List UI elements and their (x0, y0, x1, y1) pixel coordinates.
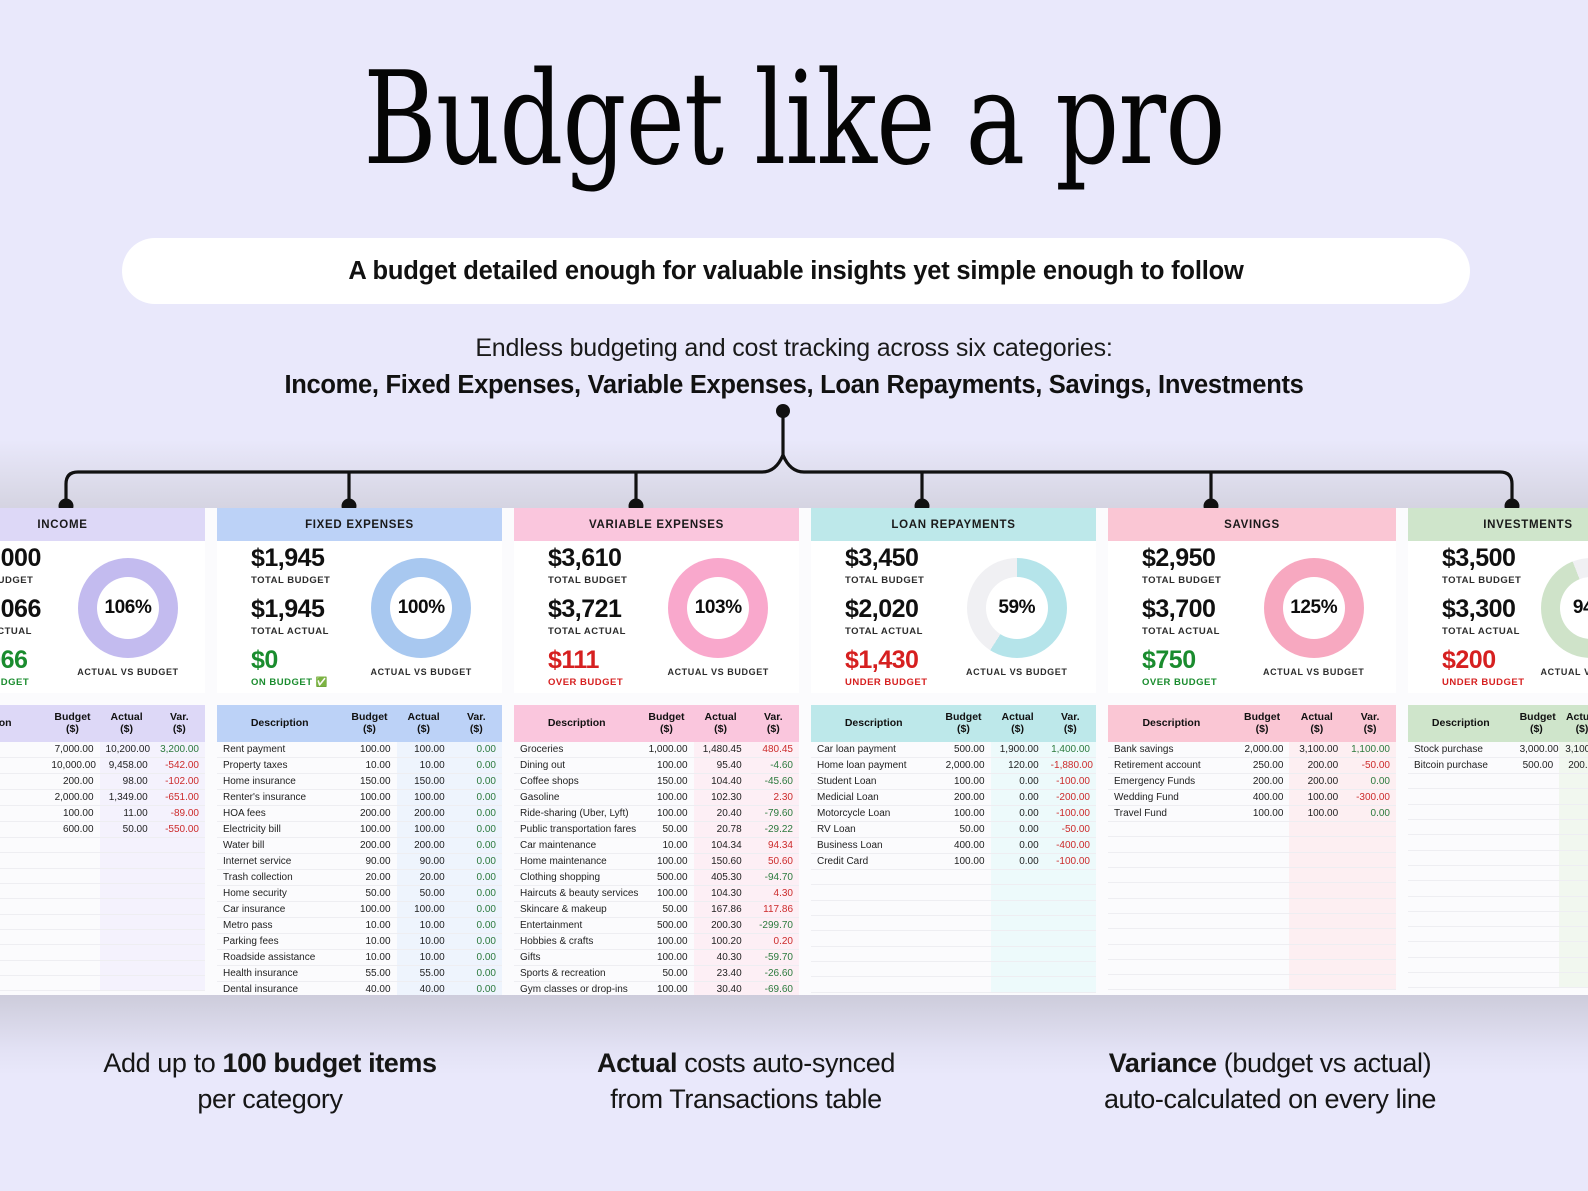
table-row[interactable]: Electricity bill100.00100.000.00 (217, 822, 502, 838)
table-row[interactable]: RV Loan50.000.00-50.00 (811, 822, 1096, 838)
table-row[interactable]: Bank savings2,000.003,100.001,100.00 (1108, 742, 1396, 758)
cell-description[interactable] (1108, 913, 1235, 928)
budget-column-fixed[interactable]: FIXED EXPENSES$1,945TOTAL BUDGET$1,945TO… (217, 508, 502, 995)
cell-budget[interactable]: 100.00 (639, 806, 693, 822)
cell-budget[interactable]: 400.00 (1235, 790, 1290, 806)
table-row[interactable] (811, 900, 1096, 915)
budget-column-variable[interactable]: VARIABLE EXPENSES$3,610TOTAL BUDGET$3,72… (514, 508, 799, 995)
table-row[interactable] (1108, 868, 1396, 883)
cell-budget[interactable]: 100.00 (936, 854, 990, 870)
table-row[interactable] (1408, 942, 1588, 957)
table-row[interactable]: Roadside assistance10.0010.000.00 (217, 950, 502, 966)
table-row[interactable]: Trash collection20.0020.000.00 (217, 870, 502, 886)
cell-description[interactable] (1408, 911, 1514, 926)
cell-budget[interactable]: 150.00 (342, 774, 396, 790)
cell-description[interactable]: Trash collection (217, 870, 342, 886)
table-row[interactable]: Haircuts & beauty services100.00104.304.… (514, 886, 799, 902)
cell-budget[interactable]: 500.00 (639, 870, 693, 886)
cell-description[interactable] (1108, 898, 1235, 913)
cell-description[interactable]: Dividends (0, 806, 45, 822)
cell-description[interactable]: Wedding Fund (1108, 790, 1235, 806)
table-row[interactable] (1108, 913, 1396, 928)
cell-budget[interactable] (1235, 822, 1290, 837)
cell-description[interactable] (811, 931, 936, 946)
cell-budget[interactable] (1514, 865, 1560, 880)
cell-description[interactable]: Business Loan (811, 838, 936, 854)
cell-budget[interactable]: 20.00 (342, 870, 396, 886)
table-row[interactable] (1408, 972, 1588, 987)
cell-budget[interactable]: 400.00 (936, 838, 990, 854)
cell-budget[interactable]: 2,000.00 (936, 758, 990, 774)
table-row[interactable] (811, 946, 1096, 961)
cell-budget[interactable]: 500.00 (1514, 758, 1560, 774)
cell-description[interactable] (0, 838, 45, 853)
cell-budget[interactable]: 500.00 (639, 918, 693, 934)
cell-budget[interactable] (1235, 975, 1290, 990)
table-row[interactable]: Credit Card100.000.00-100.00 (811, 854, 1096, 870)
table-row[interactable] (1408, 789, 1588, 804)
cell-budget[interactable]: 200.00 (342, 838, 396, 854)
cell-budget[interactable] (45, 975, 99, 990)
cell-description[interactable] (1108, 852, 1235, 867)
cell-description[interactable]: Home insurance (217, 774, 342, 790)
budget-table-income[interactable]: DescriptionBudget($)Actual($)Var.($)Sala… (0, 705, 205, 991)
cell-description[interactable] (811, 916, 936, 931)
cell-budget[interactable] (1235, 944, 1290, 959)
table-row[interactable]: Skincare & makeup50.00167.86117.86 (514, 902, 799, 918)
cell-budget[interactable] (936, 946, 990, 961)
table-row[interactable] (1408, 835, 1588, 850)
cell-budget[interactable]: 100.00 (1235, 806, 1290, 822)
cell-description[interactable]: Student Loan (811, 774, 936, 790)
cell-budget[interactable]: 100.00 (639, 854, 693, 870)
budget-column-savings[interactable]: SAVINGS$2,950TOTAL BUDGET$3,700TOTAL ACT… (1108, 508, 1396, 995)
budget-column-income[interactable]: INCOME$17,000TOTAL BUDGET$18,066TOTAL AC… (0, 508, 205, 995)
table-row[interactable]: Water bill200.00200.000.00 (217, 838, 502, 854)
cell-budget[interactable] (1514, 820, 1560, 835)
table-row[interactable] (1408, 850, 1588, 865)
table-row[interactable]: Renter's insurance100.00100.000.00 (217, 790, 502, 806)
cell-budget[interactable]: 10.00 (342, 950, 396, 966)
cell-budget[interactable]: 200.00 (936, 790, 990, 806)
table-row[interactable]: Entertainment500.00200.30-299.70 (514, 918, 799, 934)
cell-description[interactable]: Internet service (217, 854, 342, 870)
table-row[interactable]: Home insurance150.00150.000.00 (217, 774, 502, 790)
cell-budget[interactable] (1514, 850, 1560, 865)
cell-description[interactable] (1408, 850, 1514, 865)
cell-budget[interactable]: 100.00 (342, 902, 396, 918)
cell-budget[interactable] (1235, 837, 1290, 852)
table-row[interactable] (1408, 820, 1588, 835)
table-row[interactable] (1108, 898, 1396, 913)
cell-budget[interactable]: 100.00 (936, 806, 990, 822)
cell-budget[interactable] (1235, 868, 1290, 883)
cell-description[interactable]: Bitcoin purchase (1408, 758, 1514, 774)
cell-budget[interactable] (45, 838, 99, 853)
cell-description[interactable]: Car maintenance (514, 838, 639, 854)
table-row[interactable]: Travel Fund100.00100.000.00 (1108, 806, 1396, 822)
cell-budget[interactable] (1235, 898, 1290, 913)
cell-budget[interactable]: 100.00 (639, 982, 693, 995)
table-row[interactable]: Home loan payment2,000.00120.00-1,880.00 (811, 758, 1096, 774)
table-row[interactable] (0, 975, 205, 990)
cell-description[interactable]: Credit Card (811, 854, 936, 870)
table-row[interactable]: Groceries1,000.001,480.45480.45 (514, 742, 799, 758)
cell-description[interactable] (1408, 896, 1514, 911)
cell-budget[interactable]: 90.00 (342, 854, 396, 870)
budget-column-investments[interactable]: INVESTMENTS$3,500TOTAL BUDGET$3,300TOTAL… (1408, 508, 1588, 995)
cell-description[interactable]: Electricity bill (217, 822, 342, 838)
cell-budget[interactable] (936, 977, 990, 992)
cell-budget[interactable]: 55.00 (342, 966, 396, 982)
cell-budget[interactable]: 100.00 (45, 806, 99, 822)
cell-budget[interactable]: 10.00 (342, 934, 396, 950)
cell-description[interactable]: Stock purchase (1408, 742, 1514, 758)
cell-description[interactable]: Parking fees (217, 934, 342, 950)
cell-description[interactable]: Groceries (514, 742, 639, 758)
cell-budget[interactable] (936, 885, 990, 900)
cell-description[interactable]: Renter's insurance (217, 790, 342, 806)
table-row[interactable]: Gym classes or drop-ins100.0030.40-69.60 (514, 982, 799, 995)
cell-description[interactable]: Rent payment (217, 742, 342, 758)
cell-description[interactable] (0, 975, 45, 990)
cell-description[interactable]: Retirement account (1108, 758, 1235, 774)
table-row[interactable]: Motorcycle Loan100.000.00-100.00 (811, 806, 1096, 822)
cell-budget[interactable]: 3,000.00 (1514, 742, 1560, 758)
table-row[interactable] (1108, 944, 1396, 959)
cell-budget[interactable]: 500.00 (936, 742, 990, 758)
cell-description[interactable]: Car loan payment (811, 742, 936, 758)
table-row[interactable]: Retirement account250.00200.00-50.00 (1108, 758, 1396, 774)
cell-description[interactable] (1408, 835, 1514, 850)
cell-budget[interactable] (1514, 942, 1560, 957)
cell-description[interactable] (1408, 865, 1514, 880)
table-row[interactable]: Emergency Funds200.00200.000.00 (1108, 774, 1396, 790)
cell-description[interactable]: Dining out (514, 758, 639, 774)
budget-spreadsheet[interactable]: INCOME$17,000TOTAL BUDGET$18,066TOTAL AC… (0, 508, 1588, 995)
cell-budget[interactable]: 10.00 (342, 758, 396, 774)
table-row[interactable] (1108, 975, 1396, 990)
cell-budget[interactable] (1235, 929, 1290, 944)
table-row[interactable]: Public transportation fares50.0020.78-29… (514, 822, 799, 838)
table-row[interactable] (1108, 837, 1396, 852)
cell-description[interactable] (1408, 789, 1514, 804)
table-row[interactable]: Hobbies & crafts100.00100.200.20 (514, 934, 799, 950)
cell-description[interactable] (1408, 957, 1514, 972)
cell-description[interactable]: Home maintenance (514, 854, 639, 870)
table-row[interactable]: Stock purchase3,000.003,100.00100.00 (1408, 742, 1588, 758)
cell-budget[interactable] (936, 900, 990, 915)
cell-description[interactable]: Home security (217, 886, 342, 902)
cell-description[interactable] (1408, 804, 1514, 819)
cell-budget[interactable] (936, 961, 990, 976)
table-row[interactable] (0, 853, 205, 868)
cell-budget[interactable]: 100.00 (639, 758, 693, 774)
budget-column-loan[interactable]: LOAN REPAYMENTS$3,450TOTAL BUDGET$2,020T… (811, 508, 1096, 995)
table-row[interactable]: Coffee shops150.00104.40-45.60 (514, 774, 799, 790)
cell-description[interactable] (1408, 972, 1514, 987)
table-row[interactable]: Bonus10,000.009,458.00-542.00 (0, 758, 205, 774)
budget-table-loan[interactable]: DescriptionBudget($)Actual($)Var.($)Car … (811, 705, 1096, 993)
cell-budget[interactable] (45, 929, 99, 944)
table-row[interactable]: Bitcoin purchase500.00200.00-300.00 (1408, 758, 1588, 774)
cell-budget[interactable] (1235, 883, 1290, 898)
cell-description[interactable]: Roadside assistance (217, 950, 342, 966)
cell-budget[interactable]: 100.00 (639, 950, 693, 966)
cell-description[interactable]: Entertainment (514, 918, 639, 934)
cell-description[interactable] (1408, 774, 1514, 789)
cell-budget[interactable] (1514, 957, 1560, 972)
cell-budget[interactable] (45, 899, 99, 914)
cell-budget[interactable] (1514, 774, 1560, 789)
cell-description[interactable]: Refunds (0, 822, 45, 838)
cell-budget[interactable] (1514, 972, 1560, 987)
cell-budget[interactable]: 50.00 (936, 822, 990, 838)
table-row[interactable] (811, 916, 1096, 931)
cell-budget[interactable] (936, 870, 990, 885)
table-row[interactable]: Property taxes10.0010.000.00 (217, 758, 502, 774)
cell-budget[interactable]: 2,000.00 (45, 790, 99, 806)
cell-description[interactable] (0, 929, 45, 944)
table-row[interactable] (0, 868, 205, 883)
cell-budget[interactable]: 100.00 (342, 822, 396, 838)
cell-description[interactable] (1108, 929, 1235, 944)
cell-description[interactable] (1108, 959, 1235, 974)
table-row[interactable]: Student Loan100.000.00-100.00 (811, 774, 1096, 790)
table-row[interactable]: Car maintenance10.00104.3494.34 (514, 838, 799, 854)
cell-description[interactable] (1408, 820, 1514, 835)
cell-description[interactable]: Skincare & makeup (514, 902, 639, 918)
table-row[interactable]: Metro pass10.0010.000.00 (217, 918, 502, 934)
table-row[interactable] (811, 977, 1096, 992)
table-row[interactable] (0, 899, 205, 914)
table-row[interactable]: Internet service90.0090.000.00 (217, 854, 502, 870)
cell-budget[interactable] (1514, 804, 1560, 819)
table-row[interactable]: Car loan payment500.001,900.001,400.00 (811, 742, 1096, 758)
cell-description[interactable]: Car insurance (217, 902, 342, 918)
cell-budget[interactable] (1235, 913, 1290, 928)
cell-description[interactable]: Home loan payment (811, 758, 936, 774)
cell-budget[interactable]: 100.00 (342, 742, 396, 758)
table-row[interactable] (1108, 883, 1396, 898)
cell-description[interactable] (811, 900, 936, 915)
cell-description[interactable] (0, 914, 45, 929)
cell-description[interactable]: Hobbies & crafts (514, 934, 639, 950)
table-row[interactable] (1108, 959, 1396, 974)
cell-budget[interactable] (45, 868, 99, 883)
cell-description[interactable] (0, 868, 45, 883)
cell-description[interactable]: Public transportation fares (514, 822, 639, 838)
cell-budget[interactable]: 50.00 (639, 822, 693, 838)
cell-description[interactable] (1108, 883, 1235, 898)
cell-description[interactable] (1408, 927, 1514, 942)
cell-budget[interactable] (1235, 852, 1290, 867)
cell-description[interactable]: Haircuts & beauty services (514, 886, 639, 902)
cell-budget[interactable]: 100.00 (936, 774, 990, 790)
cell-description[interactable]: HOA fees (217, 806, 342, 822)
budget-table-variable[interactable]: DescriptionBudget($)Actual($)Var.($)Groc… (514, 705, 799, 995)
cell-description[interactable] (1408, 942, 1514, 957)
table-row[interactable]: HOA fees200.00200.000.00 (217, 806, 502, 822)
table-row[interactable] (1408, 804, 1588, 819)
table-row[interactable]: Car insurance100.00100.000.00 (217, 902, 502, 918)
table-row[interactable]: Dining out100.0095.40-4.60 (514, 758, 799, 774)
cell-budget[interactable] (45, 853, 99, 868)
cell-budget[interactable] (45, 884, 99, 899)
cell-budget[interactable]: 7,000.00 (45, 742, 99, 758)
cell-budget[interactable] (1514, 835, 1560, 850)
cell-budget[interactable]: 2,000.00 (1235, 742, 1290, 758)
table-row[interactable] (0, 945, 205, 960)
cell-budget[interactable]: 100.00 (639, 886, 693, 902)
table-row[interactable]: Home maintenance100.00150.6050.60 (514, 854, 799, 870)
cell-description[interactable] (811, 961, 936, 976)
cell-budget[interactable]: 40.00 (342, 982, 396, 995)
table-row[interactable] (1408, 957, 1588, 972)
cell-budget[interactable]: 100.00 (342, 790, 396, 806)
table-row[interactable]: Home security50.0050.000.00 (217, 886, 502, 902)
cell-budget[interactable]: 600.00 (45, 822, 99, 838)
cell-budget[interactable] (1514, 881, 1560, 896)
cell-description[interactable] (0, 899, 45, 914)
cell-description[interactable]: Coffee shops (514, 774, 639, 790)
table-row[interactable] (1108, 929, 1396, 944)
budget-table-fixed[interactable]: DescriptionBudget($)Actual($)Var.($)Rent… (217, 705, 502, 995)
table-row[interactable] (1408, 881, 1588, 896)
cell-budget[interactable] (1235, 959, 1290, 974)
cell-budget[interactable] (1514, 911, 1560, 926)
table-row[interactable] (1408, 927, 1588, 942)
table-row[interactable]: Dental insurance40.0040.000.00 (217, 982, 502, 995)
cell-budget[interactable]: 50.00 (639, 902, 693, 918)
table-row[interactable]: Salary7,000.0010,200.003,200.00 (0, 742, 205, 758)
cell-budget[interactable]: 200.00 (1235, 774, 1290, 790)
cell-description[interactable]: Clothing shopping (514, 870, 639, 886)
table-row[interactable]: Dividends100.0011.00-89.00 (0, 806, 205, 822)
cell-description[interactable]: Sports & recreation (514, 966, 639, 982)
cell-description[interactable] (1108, 975, 1235, 990)
cell-description[interactable] (0, 884, 45, 899)
table-row[interactable] (1408, 896, 1588, 911)
table-row[interactable]: Medicial Loan200.000.00-200.00 (811, 790, 1096, 806)
table-row[interactable] (0, 960, 205, 975)
cell-budget[interactable] (1514, 789, 1560, 804)
cell-description[interactable] (1108, 868, 1235, 883)
cell-description[interactable]: Salary (0, 742, 45, 758)
cell-budget[interactable]: 10.00 (639, 838, 693, 854)
cell-description[interactable]: Side hustle (0, 790, 45, 806)
table-row[interactable]: Interest200.0098.00-102.00 (0, 774, 205, 790)
cell-budget[interactable]: 50.00 (342, 886, 396, 902)
table-row[interactable] (0, 929, 205, 944)
cell-description[interactable] (811, 977, 936, 992)
cell-budget[interactable]: 150.00 (639, 774, 693, 790)
table-row[interactable] (0, 838, 205, 853)
table-row[interactable]: Business Loan400.000.00-400.00 (811, 838, 1096, 854)
cell-description[interactable]: Gifts (514, 950, 639, 966)
cell-description[interactable] (1408, 881, 1514, 896)
cell-budget[interactable]: 100.00 (639, 790, 693, 806)
table-row[interactable]: Side hustle2,000.001,349.00-651.00 (0, 790, 205, 806)
table-row[interactable] (811, 931, 1096, 946)
cell-budget[interactable] (45, 914, 99, 929)
table-row[interactable]: Ride-sharing (Uber, Lyft)100.0020.40-79.… (514, 806, 799, 822)
cell-budget[interactable] (1514, 896, 1560, 911)
cell-description[interactable] (0, 945, 45, 960)
table-row[interactable]: Clothing shopping500.00405.30-94.70 (514, 870, 799, 886)
table-row[interactable] (811, 961, 1096, 976)
cell-description[interactable]: Bank savings (1108, 742, 1235, 758)
cell-description[interactable]: Interest (0, 774, 45, 790)
cell-description[interactable]: Travel Fund (1108, 806, 1235, 822)
cell-budget[interactable] (936, 931, 990, 946)
cell-description[interactable] (811, 946, 936, 961)
table-row[interactable] (0, 914, 205, 929)
cell-budget[interactable]: 50.00 (639, 966, 693, 982)
table-row[interactable]: Health insurance55.0055.000.00 (217, 966, 502, 982)
cell-description[interactable] (811, 870, 936, 885)
cell-budget[interactable]: 200.00 (45, 774, 99, 790)
cell-description[interactable]: RV Loan (811, 822, 936, 838)
table-row[interactable] (0, 884, 205, 899)
cell-budget[interactable]: 10.00 (342, 918, 396, 934)
cell-description[interactable] (1108, 944, 1235, 959)
cell-budget[interactable] (1514, 927, 1560, 942)
cell-budget[interactable]: 200.00 (342, 806, 396, 822)
table-row[interactable] (1408, 911, 1588, 926)
cell-budget[interactable] (45, 960, 99, 975)
cell-description[interactable] (1108, 822, 1235, 837)
cell-budget[interactable]: 250.00 (1235, 758, 1290, 774)
table-row[interactable]: Refunds600.0050.00-550.00 (0, 822, 205, 838)
cell-budget[interactable] (936, 916, 990, 931)
cell-description[interactable]: Gasoline (514, 790, 639, 806)
table-row[interactable]: Wedding Fund400.00100.00-300.00 (1108, 790, 1396, 806)
table-row[interactable]: Parking fees10.0010.000.00 (217, 934, 502, 950)
cell-budget[interactable] (45, 945, 99, 960)
cell-description[interactable]: Water bill (217, 838, 342, 854)
cell-description[interactable] (0, 960, 45, 975)
table-row[interactable]: Gifts100.0040.30-59.70 (514, 950, 799, 966)
table-row[interactable] (811, 885, 1096, 900)
cell-description[interactable]: Health insurance (217, 966, 342, 982)
table-row[interactable] (1108, 822, 1396, 837)
cell-description[interactable] (811, 885, 936, 900)
table-row[interactable] (811, 870, 1096, 885)
table-row[interactable] (1108, 852, 1396, 867)
cell-description[interactable] (1108, 837, 1235, 852)
cell-budget[interactable]: 1,000.00 (639, 742, 693, 758)
budget-table-investments[interactable]: DescriptionBudget($)Actual($)Var.($)Stoc… (1408, 705, 1588, 988)
cell-description[interactable]: Metro pass (217, 918, 342, 934)
table-row[interactable] (1408, 865, 1588, 880)
cell-description[interactable]: Ride-sharing (Uber, Lyft) (514, 806, 639, 822)
table-row[interactable] (1408, 774, 1588, 789)
cell-description[interactable]: Medicial Loan (811, 790, 936, 806)
cell-description[interactable]: Gym classes or drop-ins (514, 982, 639, 995)
cell-budget[interactable]: 100.00 (639, 934, 693, 950)
cell-description[interactable]: Emergency Funds (1108, 774, 1235, 790)
table-row[interactable]: Rent payment100.00100.000.00 (217, 742, 502, 758)
cell-budget[interactable]: 10,000.00 (45, 758, 99, 774)
table-row[interactable]: Gasoline100.00102.302.30 (514, 790, 799, 806)
table-row[interactable]: Sports & recreation50.0023.40-26.60 (514, 966, 799, 982)
cell-description[interactable]: Bonus (0, 758, 45, 774)
cell-description[interactable] (0, 853, 45, 868)
cell-description[interactable]: Dental insurance (217, 982, 342, 995)
budget-table-savings[interactable]: DescriptionBudget($)Actual($)Var.($)Bank… (1108, 705, 1396, 990)
cell-description[interactable]: Motorcycle Loan (811, 806, 936, 822)
